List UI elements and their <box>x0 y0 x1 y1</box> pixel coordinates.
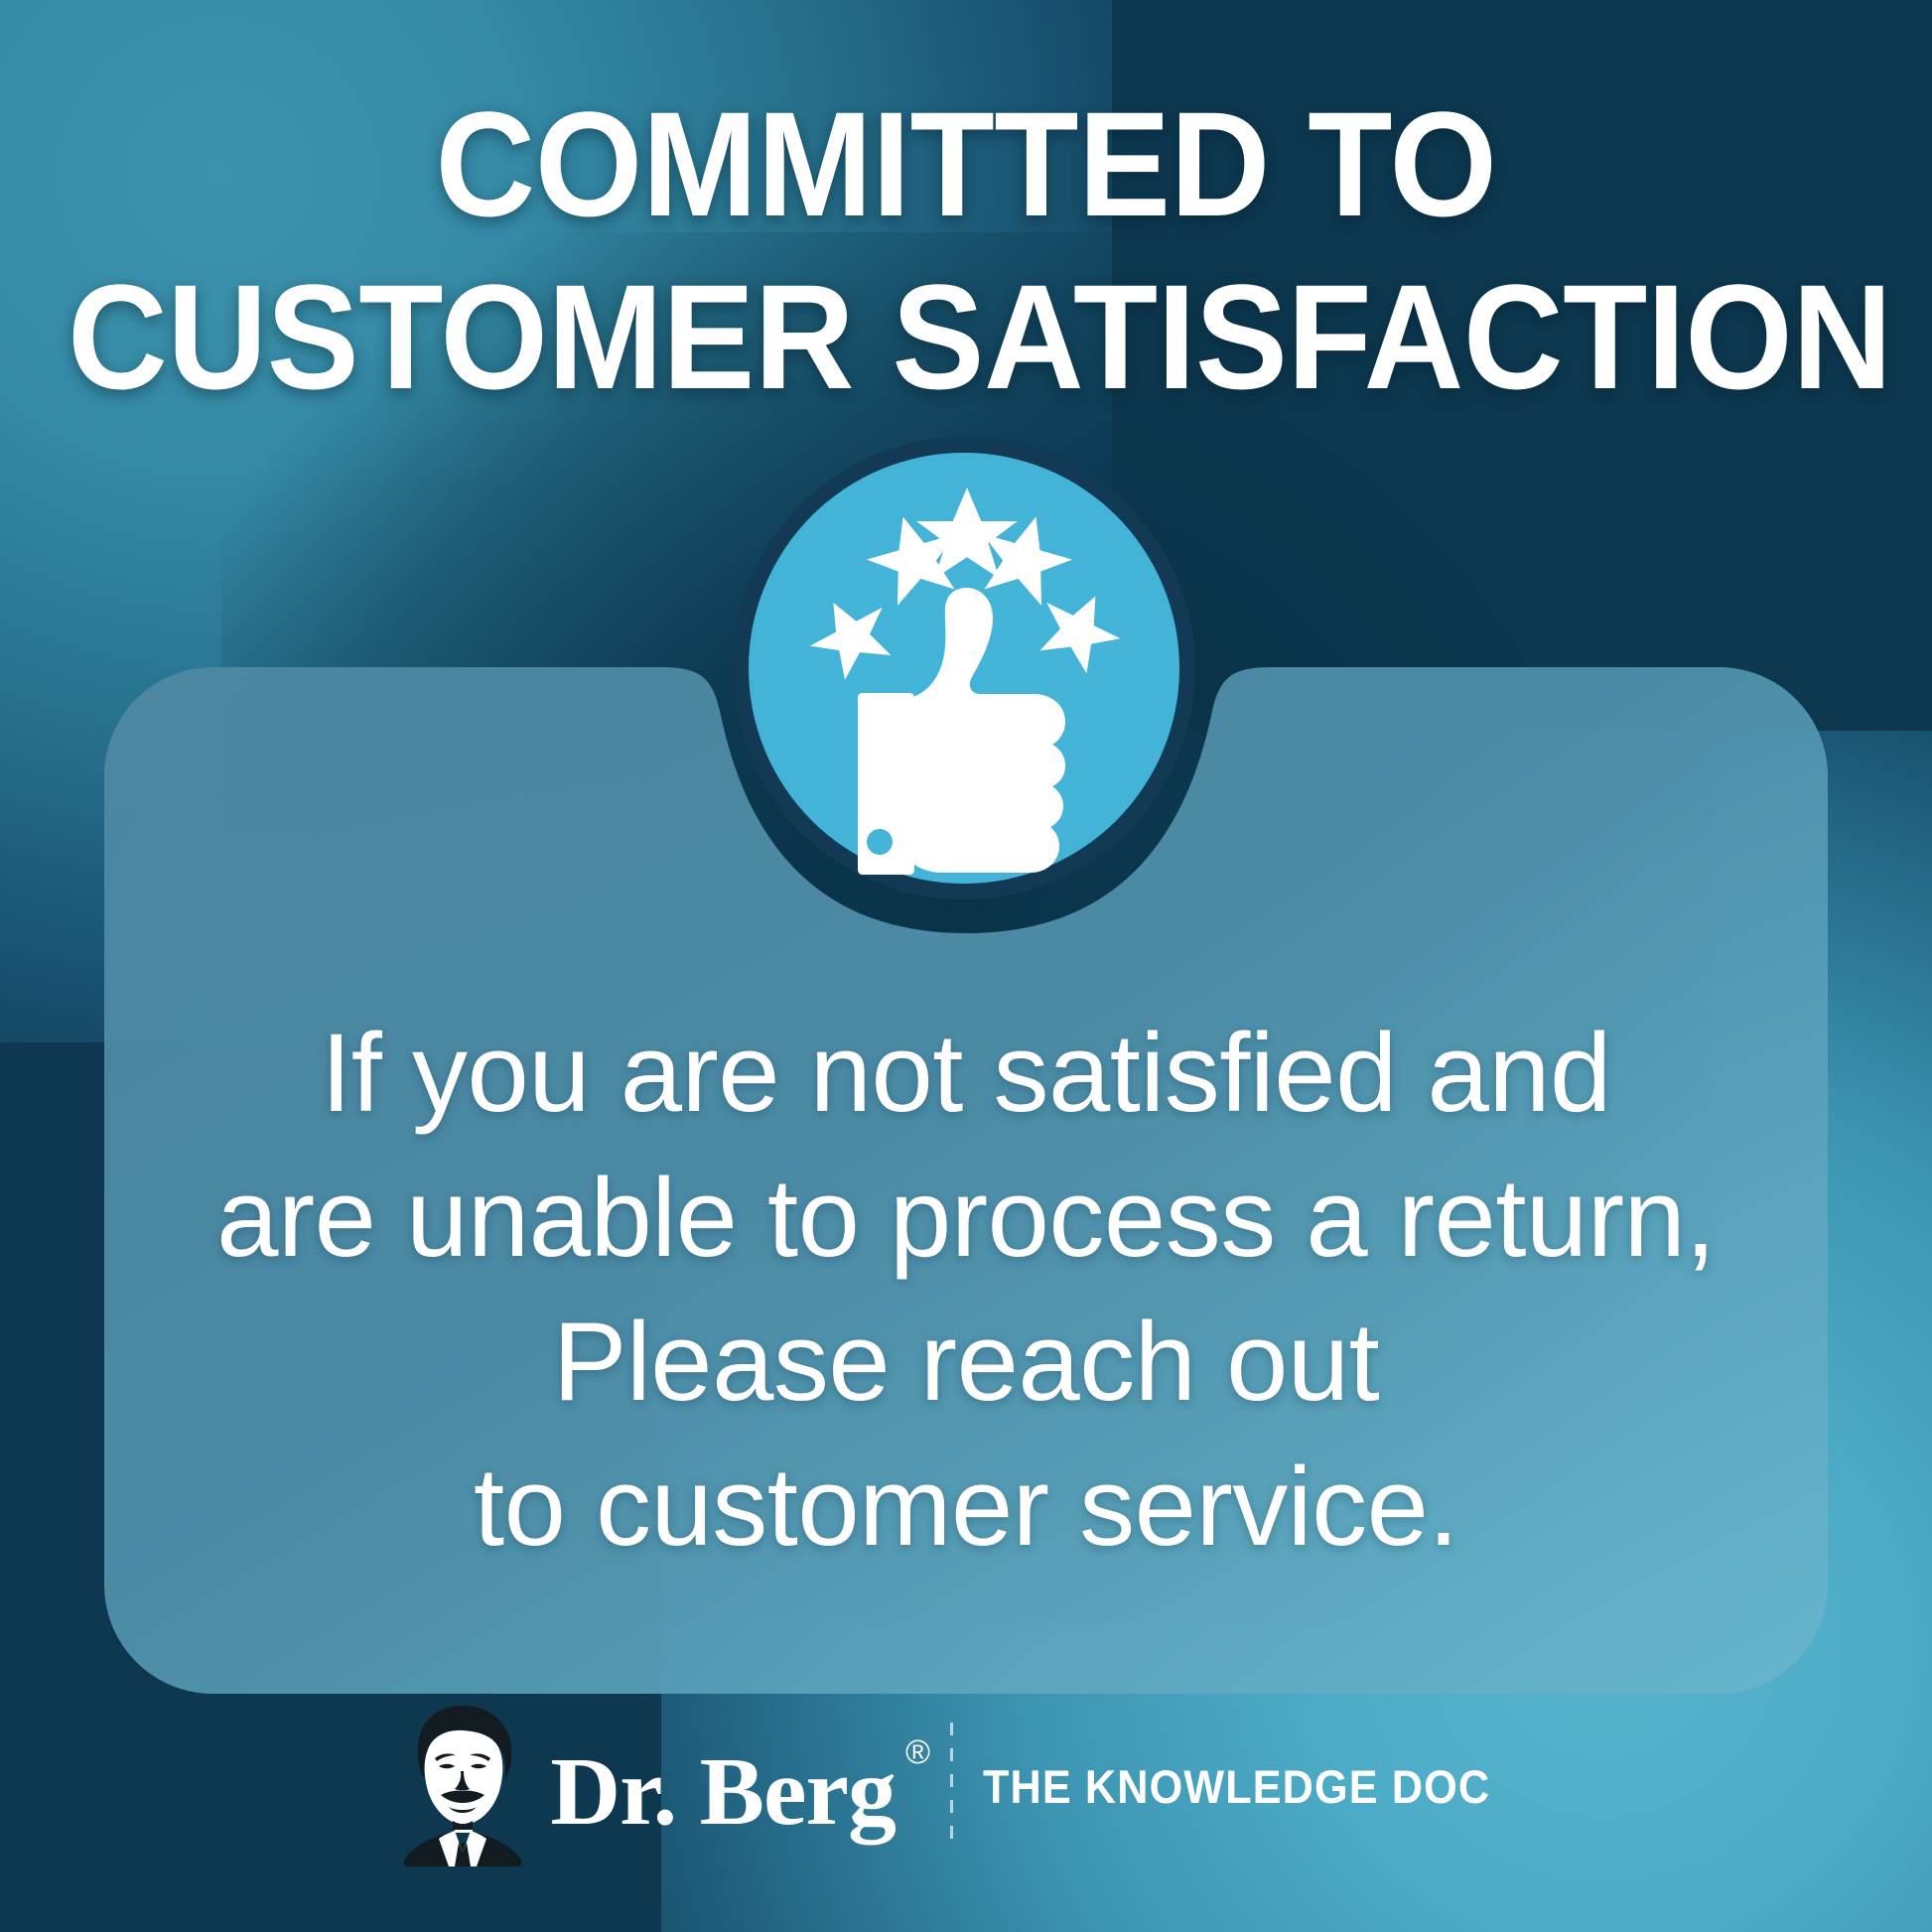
promo-card-canvas: COMMITTED TO CUSTOMER SATISFACTION <box>0 0 1932 1932</box>
message-line-2: are unable to process a return, <box>119 1146 1813 1291</box>
cuff-button-icon <box>867 829 893 855</box>
message-body: If you are not satisfied and are unable … <box>119 1001 1813 1579</box>
page-title-line-2: CUSTOMER SATISFACTION <box>68 250 1864 423</box>
message-line-3: Please reach out <box>119 1290 1813 1435</box>
message-line-4: to customer service. <box>119 1435 1813 1580</box>
thumbs-up-five-stars-icon <box>733 437 1195 899</box>
dr-berg-portrait-icon <box>397 1704 528 1868</box>
message-line-1: If you are not satisfied and <box>119 1001 1813 1146</box>
page-title: COMMITTED TO CUSTOMER SATISFACTION <box>68 77 1864 423</box>
brand-footer: Dr. Berg ® THE KNOWLEDGE DOC <box>0 1692 1932 1880</box>
registered-trademark-icon: ® <box>905 1735 930 1769</box>
brand-tagline: THE KNOWLEDGE DOC <box>983 1759 1490 1814</box>
brand-name: Dr. Berg <box>550 1743 896 1841</box>
footer-divider <box>950 1723 953 1850</box>
satisfaction-badge <box>733 437 1195 899</box>
page-title-line-1: COMMITTED TO <box>68 77 1864 250</box>
